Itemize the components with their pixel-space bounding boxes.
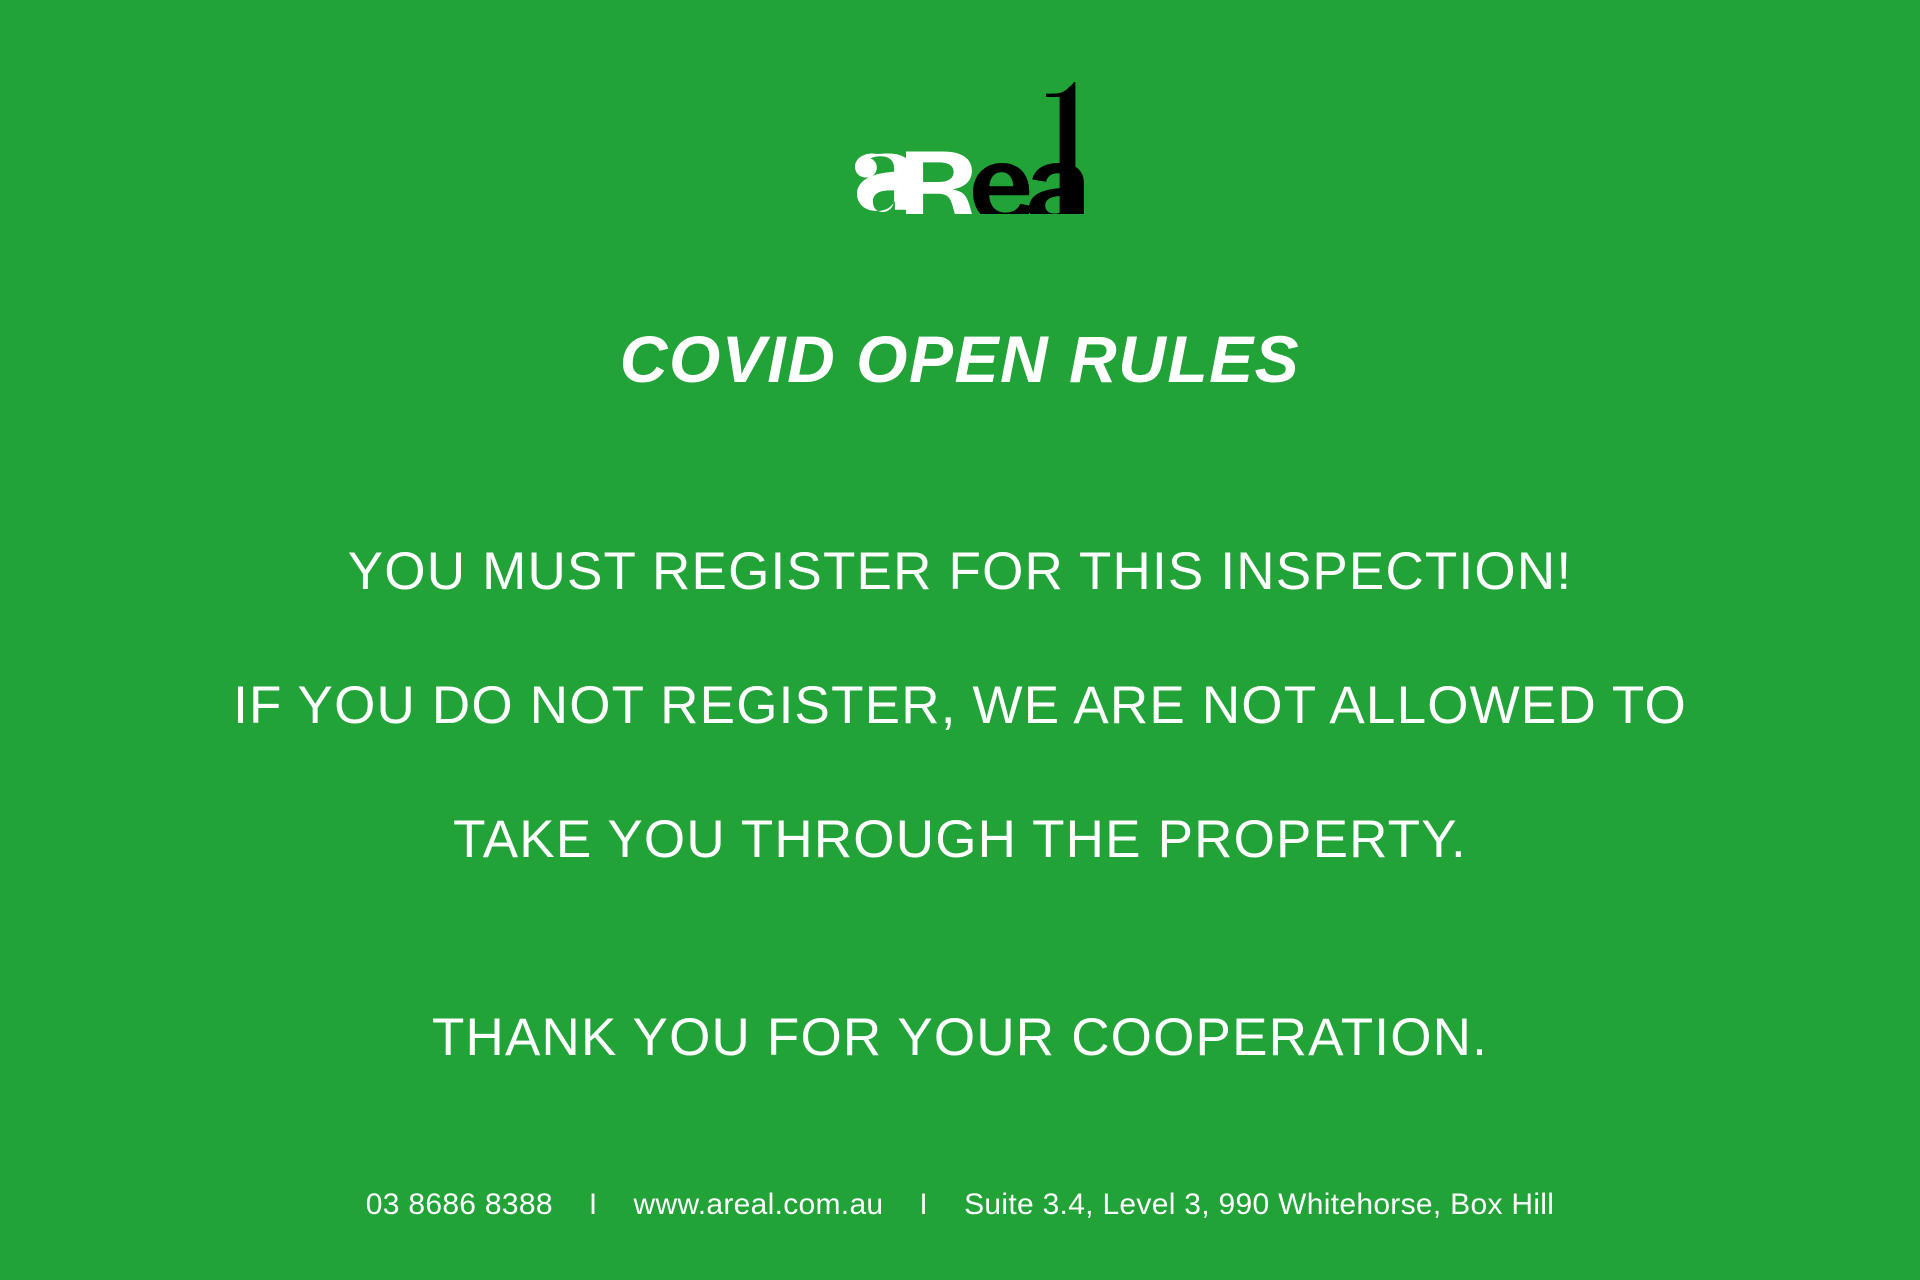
logo-letter-e	[973, 163, 1033, 214]
footer-address: Suite 3.4, Level 3, 990 Whitehorse, Box …	[964, 1188, 1554, 1222]
body-copy: YOU MUST REGISTER FOR THIS INSPECTION! I…	[0, 505, 1920, 1105]
body-line-2: IF YOU DO NOT REGISTER, WE ARE NOT ALLOW…	[0, 639, 1920, 773]
areal-logo-icon	[834, 82, 1086, 214]
body-line-1: YOU MUST REGISTER FOR THIS INSPECTION!	[0, 505, 1920, 639]
covid-open-rules-poster: aReal COVID OPEN RULES YOU MUST REGISTER…	[0, 0, 1920, 1280]
page-title: COVID OPEN RULES	[0, 326, 1920, 392]
logo-letter-a2	[1029, 163, 1084, 214]
body-line-4: THANK YOU FOR YOUR COOPERATION.	[0, 971, 1920, 1105]
logo-letter-r	[906, 152, 974, 215]
footer-separator-2: I	[883, 1188, 964, 1222]
footer-phone: 03 8686 8388	[366, 1188, 553, 1222]
brand-logo: aReal	[0, 84, 1920, 214]
logo-letter-a	[855, 154, 911, 213]
contact-footer: 03 8686 8388 I www.areal.com.au I Suite …	[0, 1188, 1920, 1222]
footer-website[interactable]: www.areal.com.au	[634, 1188, 884, 1222]
footer-separator-1: I	[553, 1188, 634, 1222]
body-line-3: TAKE YOU THROUGH THE PROPERTY.	[0, 773, 1920, 907]
